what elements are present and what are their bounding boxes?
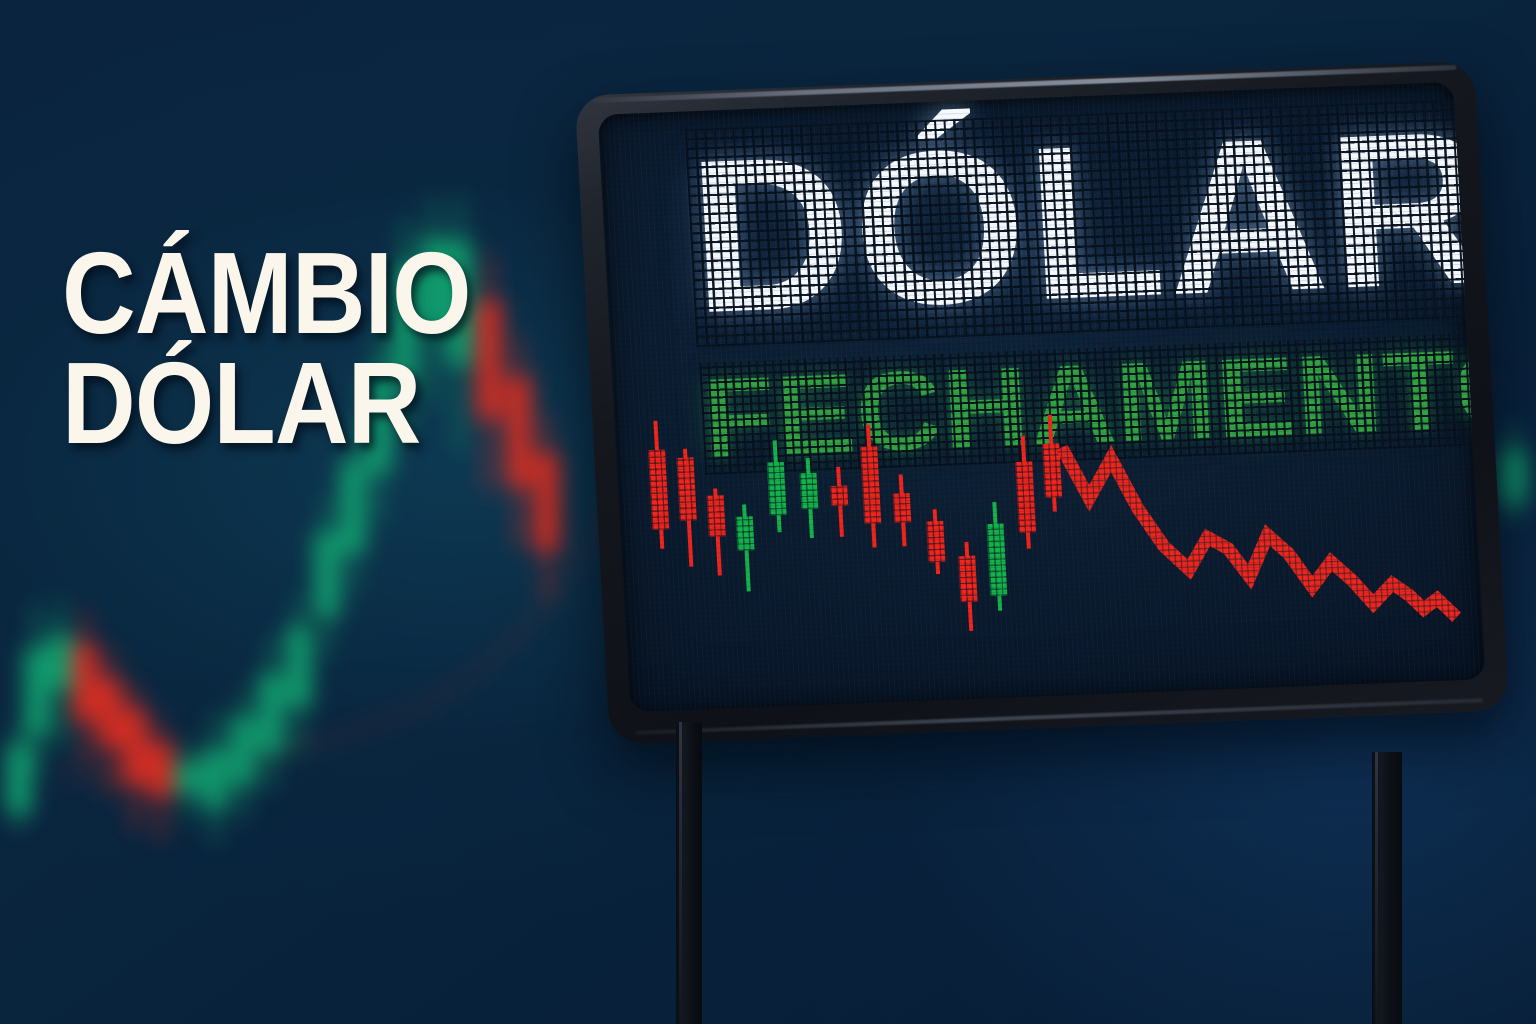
headline-line-2: DÓLAR — [62, 348, 520, 458]
candle-body — [314, 532, 340, 618]
background-candle — [175, 742, 201, 822]
background-candle — [72, 612, 98, 768]
candle-body — [534, 452, 560, 552]
background-candle — [202, 712, 228, 844]
post-right-highlight — [1375, 752, 1378, 1024]
background-candle — [48, 600, 74, 748]
poster-canvas: CÁMBIO DÓLAR DÓLAR FECHAMENTO — [0, 0, 1536, 1024]
billboard: DÓLAR FECHAMENTO — [575, 61, 1510, 745]
candle-body — [122, 708, 148, 786]
candle-body — [48, 634, 74, 690]
candle-body — [148, 742, 174, 798]
billboard-led-screen: DÓLAR FECHAMENTO — [598, 82, 1486, 712]
background-candle — [1500, 424, 1526, 524]
candle-body — [230, 716, 256, 786]
candle-body — [72, 644, 98, 722]
candle-body — [175, 762, 201, 794]
post-left-highlight — [679, 722, 682, 1024]
candle-body — [24, 648, 50, 736]
candle-body — [97, 678, 123, 748]
background-candle — [534, 414, 560, 600]
background-candle — [148, 720, 174, 840]
led-candlestick-chart — [598, 82, 1486, 712]
background-candle — [258, 638, 284, 790]
background-candle — [97, 650, 123, 796]
candle-body — [202, 748, 228, 810]
background-candle — [286, 596, 312, 754]
billboard-post-left — [676, 722, 702, 1024]
led-trend-line — [598, 82, 1486, 712]
background-candle — [314, 498, 340, 656]
background-candle — [230, 688, 256, 820]
candle-body — [1500, 450, 1526, 504]
candle-body — [340, 460, 366, 554]
background-candle — [24, 604, 50, 774]
page-title: CÁMBIO DÓLAR — [62, 238, 520, 458]
background-candle — [122, 684, 148, 830]
billboard-post-right — [1372, 752, 1402, 1024]
candle-body — [286, 626, 312, 708]
candle-body — [258, 674, 284, 754]
